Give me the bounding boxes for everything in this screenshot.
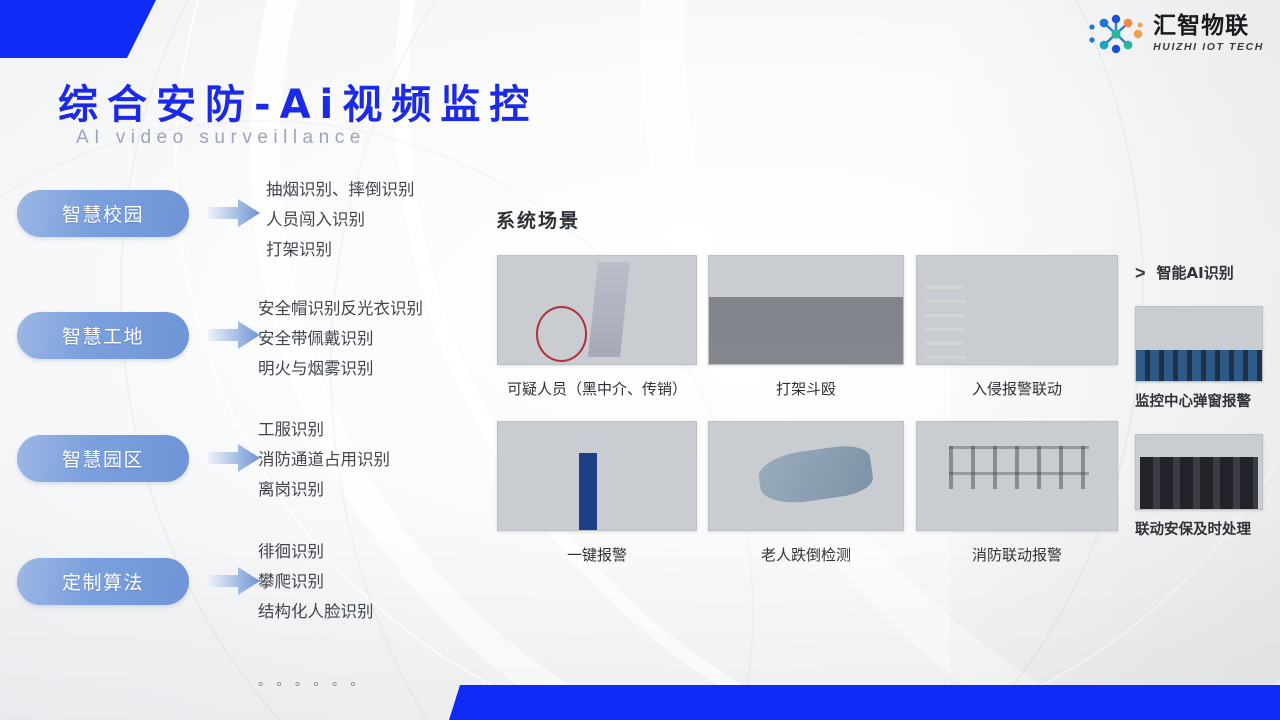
- detection-highlight-ellipse: [536, 306, 588, 362]
- scene-card-onekey[interactable]: 一键报警: [497, 421, 697, 565]
- sidebar-item-smart-campus[interactable]: 智慧校园: [17, 190, 189, 237]
- scene-card-fall[interactable]: 老人跌倒检测: [708, 421, 904, 565]
- elderly-fall-photo: [708, 421, 904, 531]
- brand-logo: 汇智物联 HUIZHI IOT TECH: [1088, 13, 1264, 55]
- capability-item: 徘徊识别: [258, 537, 374, 567]
- sidebar-item-smart-site[interactable]: 智慧工地: [17, 312, 189, 359]
- sidebar-item-custom-algorithm[interactable]: 定制算法: [17, 558, 189, 605]
- right-arrow-icon: [208, 443, 260, 473]
- capability-item: 工服识别: [258, 415, 390, 445]
- ai-recognition-tag: > 智能AI识别: [1135, 262, 1234, 283]
- capability-group-label: 智慧工地: [62, 322, 144, 349]
- section-title: 系统场景: [496, 206, 580, 233]
- fire-control-panel-photo: [916, 421, 1118, 531]
- scene-card-caption: 入侵报警联动: [916, 378, 1118, 399]
- right-arrow-icon: [208, 320, 260, 350]
- street-crowd-photo: [497, 255, 697, 365]
- scene-card-intrusion[interactable]: 入侵报警联动: [916, 255, 1118, 399]
- scene-card-caption: 一键报警: [497, 544, 697, 565]
- alarm-pole-photo: [497, 421, 697, 531]
- capability-item: 明火与烟雾识别: [258, 354, 423, 384]
- control-room-photo: [1135, 306, 1263, 382]
- scene-card-fire[interactable]: 消防联动报警: [916, 421, 1118, 565]
- scene-card-fight[interactable]: 打架斗殴: [708, 255, 904, 399]
- capability-list: 智慧校园 抽烟识别、摔倒识别 人员闯入识别 打架识别 智慧工地: [0, 180, 470, 668]
- page-title: 综合安防-Ai视频监控: [58, 72, 538, 130]
- capability-group-label: 智慧园区: [62, 445, 144, 472]
- molecule-network-icon: [1088, 13, 1144, 55]
- security-guards-photo: [1135, 434, 1263, 510]
- scene-card-caption: 打架斗殴: [708, 378, 904, 399]
- right-arrow-icon: [208, 198, 260, 228]
- sidebar-item-smart-park[interactable]: 智慧园区: [17, 435, 189, 482]
- scene-card-caption: 联动安保及时处理: [1135, 518, 1263, 539]
- ai-recognition-label: 智能AI识别: [1157, 262, 1234, 283]
- scene-card-caption: 可疑人员（黑中介、传销）: [497, 378, 697, 399]
- slide-canvas: 汇智物联 HUIZHI IOT TECH 综合安防-Ai视频监控 AI vide…: [0, 0, 1280, 720]
- scene-card-caption: 监控中心弹窗报警: [1135, 390, 1263, 411]
- capability-item: 攀爬识别: [258, 567, 374, 597]
- capability-group: 智慧校园 抽烟识别、摔倒识别 人员闯入识别 打架识别: [0, 180, 470, 302]
- chevron-right-icon: >: [1135, 264, 1146, 282]
- capability-group: 智慧园区 工服识别 消防通道占用识别 离岗识别: [0, 424, 470, 546]
- capability-item: 打架识别: [266, 235, 415, 265]
- capability-group-label: 定制算法: [62, 568, 144, 595]
- scene-card-caption: 老人跌倒检测: [708, 544, 904, 565]
- capability-item: 人员闯入识别: [266, 205, 415, 235]
- capability-item: 抽烟识别、摔倒识别: [266, 175, 415, 205]
- capability-item: 消防通道占用识别: [258, 445, 390, 475]
- capability-group: 智慧工地 安全帽识别反光衣识别 安全带佩戴识别 明火与烟雾识别: [0, 302, 470, 424]
- capability-ellipsis: 。。。。。。: [258, 670, 376, 689]
- brand-name-en: HUIZHI IOT TECH: [1153, 42, 1264, 53]
- corner-accent-top-left: [0, 0, 160, 58]
- scene-card-control-center[interactable]: 监控中心弹窗报警: [1135, 306, 1263, 411]
- capability-item: 安全帽识别反光衣识别: [258, 294, 423, 324]
- brand-name-cn: 汇智物联: [1153, 15, 1264, 38]
- capability-item: 结构化人脸识别: [258, 597, 374, 627]
- capability-item: 安全带佩戴识别: [258, 324, 423, 354]
- capability-group-label: 智慧校园: [62, 200, 144, 227]
- page-subtitle: AI video surveillance: [76, 127, 366, 149]
- scene-card-caption: 消防联动报警: [916, 544, 1118, 565]
- capability-item: 离岗识别: [258, 475, 390, 505]
- street-fight-photo: [708, 255, 904, 365]
- wall-climb-photo: [916, 255, 1118, 365]
- scene-card-suspicious[interactable]: 可疑人员（黑中介、传销）: [497, 255, 697, 399]
- corner-accent-bottom-right: [449, 685, 1280, 720]
- capability-group: 定制算法 徘徊识别 攀爬识别 结构化人脸识别: [0, 546, 470, 668]
- scene-card-security-team[interactable]: 联动安保及时处理: [1135, 434, 1263, 539]
- right-arrow-icon: [208, 566, 260, 596]
